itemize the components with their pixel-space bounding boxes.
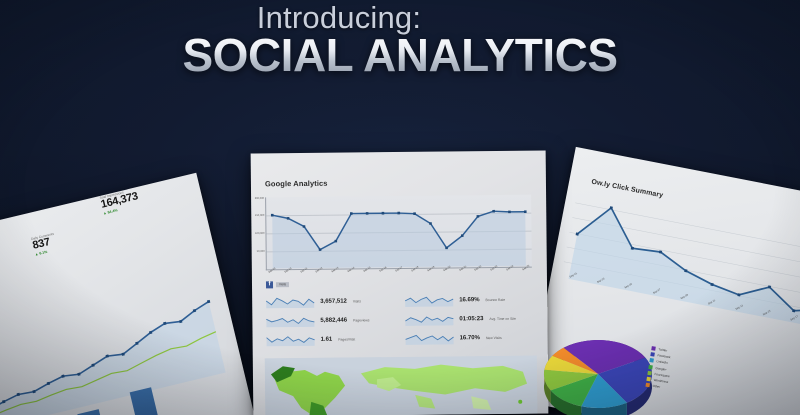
sparkline [403,293,455,307]
kpi-change-value: 84.4% [107,208,118,214]
metric-item: 01:05:23Avg. Time on Site [403,311,536,327]
metrics-grid: 3,657,512Visits16.69%Bounce Rate5,882,44… [264,292,537,348]
google-analytics-title: Google Analytics [265,179,328,189]
sparkline [404,331,456,345]
metric-item: 3,657,512Visits [264,293,397,309]
metric-item: 16.69%Bounce Rate [403,292,536,308]
y-tick: 100,000 [255,232,264,235]
legend-swatch [645,383,650,388]
legend-swatch [649,358,654,363]
metric-value: 16.69% [459,297,479,303]
metric-label: Avg. Time on Site [489,316,516,320]
legend-swatch [646,377,651,382]
metric-item: 1.61Pages/Visit [265,331,398,347]
legend-label: LinkedIn [656,359,668,365]
metric-value: 01:05:23 [459,316,483,322]
metric-label: Pageviews [353,318,369,322]
metric-value: 1.61 [321,336,333,342]
metric-label: Visits [353,299,361,303]
metric-label: Bounce Rate [486,297,506,301]
legend-swatch [647,371,652,376]
legend-label: Other [652,384,660,389]
metric-label: Pages/Visit [338,337,355,341]
x-tick: Sep 25 [522,264,534,277]
sparkline [264,295,316,309]
y-tick: 200,000 [255,197,264,200]
legend-label: Facebook [657,353,671,359]
sparkline [403,312,455,326]
legend-label: WordPress [653,378,668,384]
visits-by-country-map [265,356,538,415]
legend-label: Twitter [658,347,667,352]
metric-item: 5,882,446Pageviews [264,312,397,328]
chart-legend: f Visits [266,281,289,288]
sparkline [264,314,316,328]
metric-label: New Visits [486,335,502,339]
bar [77,409,112,415]
sparkline [265,333,317,347]
google-analytics-document[interactable]: Google Analytics 200,000 150,000 100,000… [251,150,549,415]
google-analytics-x-axis: Sep 09Sep 10Sep 11Sep 12Sep 13Sep 14Sep … [266,268,532,282]
facebook-icon: f [266,281,273,288]
bar [130,387,167,415]
legend-label: Visits [276,282,289,287]
legend-swatch [651,346,656,351]
legend-label: Google+ [655,366,667,372]
kpi-daily-comments: Daily Comments 837 ▲ 6.1% [31,232,58,256]
metric-value: 16.70% [460,335,480,341]
y-tick: 50,000 [257,250,265,253]
y-tick: 150,000 [255,214,264,217]
legend-swatch [650,352,655,357]
metric-value: 5,882,446 [320,317,347,323]
metric-item: 16.70%New Visits [403,330,536,346]
legend-swatch [648,364,653,369]
legend-label: Foursquare [654,372,670,378]
google-analytics-chart: 200,000 150,000 100,000 50,000 [265,195,532,271]
kpi-change-value: 6.1% [39,249,48,255]
metric-value: 3,657,512 [320,298,347,304]
